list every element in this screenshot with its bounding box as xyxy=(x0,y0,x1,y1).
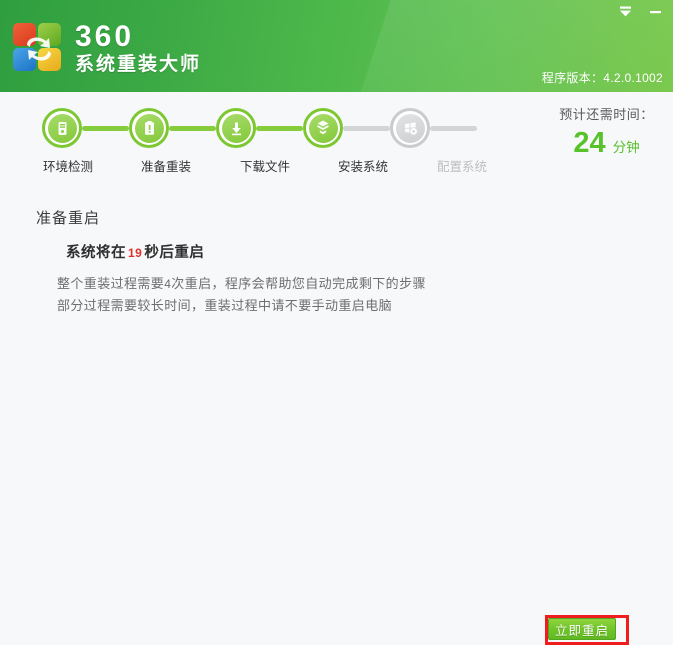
step-label-1: 环境检测 xyxy=(28,156,108,175)
time-estimate-value-row: 24 分钟 xyxy=(540,127,673,159)
page-title: 准备重启 xyxy=(36,207,100,228)
step-1-environment-check[interactable] xyxy=(42,108,82,148)
clipboard-icon xyxy=(135,114,164,143)
time-estimate-unit: 分钟 xyxy=(613,136,640,156)
progress-steps: 环境检测 准备重装 下载文件 安装系统 配置系统 xyxy=(0,92,540,187)
time-estimate-value: 24 xyxy=(573,127,605,159)
connector-1 xyxy=(82,126,129,131)
time-estimate-label: 预计还需时间： xyxy=(540,104,673,123)
connector-3 xyxy=(256,126,303,131)
version-label: 程序版本：4.2.0.1002 xyxy=(542,69,663,86)
connector-4 xyxy=(343,126,390,131)
step-label-5: 配置系统 xyxy=(422,156,502,175)
step-4-install-system[interactable] xyxy=(303,108,343,148)
refresh-arrows-icon xyxy=(13,23,65,75)
app-logo xyxy=(13,23,65,75)
progress-step-labels: 环境检测 准备重装 下载文件 安装系统 配置系统 xyxy=(0,156,540,176)
description-line-1-suffix: 次重启，程序会帮助您自动完成剩下的步骤 xyxy=(171,276,426,291)
step-label-3: 下载文件 xyxy=(225,156,305,175)
minimize-icon[interactable] xyxy=(645,2,665,20)
step-label-4: 安装系统 xyxy=(323,156,403,175)
download-icon xyxy=(222,114,251,143)
brand-name: 系统重装大师 xyxy=(75,53,201,77)
description-block: 整个重装过程需要4次重启，程序会帮助您自动完成剩下的步骤 部分过程需要较长时间，… xyxy=(57,273,426,316)
step-2-prepare-reinstall[interactable] xyxy=(129,108,169,148)
description-line-1-prefix: 整个重装过程需要 xyxy=(57,276,164,291)
step-label-2: 准备重装 xyxy=(126,156,206,175)
connector-2 xyxy=(169,126,216,131)
reboot-now-button[interactable]: 立即重启 xyxy=(548,618,616,640)
settings-windows-icon xyxy=(396,114,425,143)
step-5-configure-system[interactable] xyxy=(390,108,430,148)
computer-icon xyxy=(48,114,77,143)
connector-5 xyxy=(430,126,477,131)
window-controls xyxy=(615,2,665,20)
countdown-suffix: 秒后重启 xyxy=(144,245,204,261)
countdown-line: 系统将在19秒后重启 xyxy=(66,241,204,262)
app-header: 360 系统重装大师 程序版本：4.2.0.1002 xyxy=(0,0,673,92)
brand-text: 360 系统重装大师 xyxy=(75,22,201,77)
countdown-prefix: 系统将在 xyxy=(66,245,126,261)
install-icon xyxy=(309,114,338,143)
countdown-seconds: 19 xyxy=(126,246,144,260)
main-content: 准备重启 系统将在19秒后重启 整个重装过程需要4次重启，程序会帮助您自动完成剩… xyxy=(0,187,673,510)
description-line-1: 整个重装过程需要4次重启，程序会帮助您自动完成剩下的步骤 xyxy=(57,273,426,295)
menu-icon[interactable] xyxy=(615,2,635,20)
step-3-download-files[interactable] xyxy=(216,108,256,148)
progress-steps-row xyxy=(42,108,477,148)
time-estimate: 预计还需时间： 24 分钟 xyxy=(540,104,673,159)
description-line-2: 部分过程需要较长时间，重装过程中请不要手动重启电脑 xyxy=(57,295,426,316)
brand-number: 360 xyxy=(75,22,201,52)
